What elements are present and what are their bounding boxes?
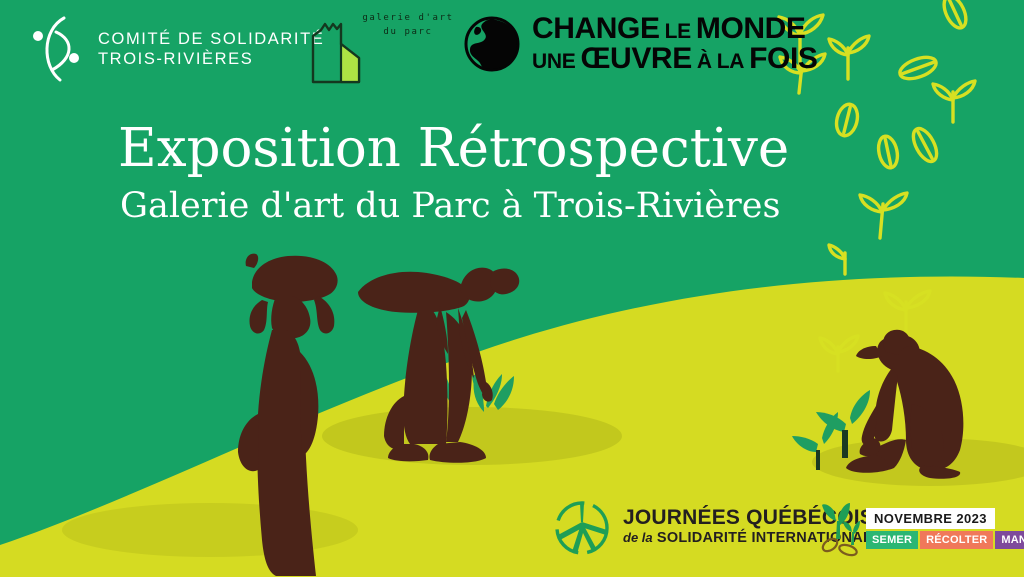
logo-gap-line2: du parc bbox=[361, 26, 455, 40]
change-word-la: LA bbox=[717, 52, 744, 73]
date-badge: NOVEMBRE 2023 SEMER RÉCOLTER MANGER bbox=[866, 508, 1024, 549]
change-word-oeuvre: ŒUVRE bbox=[580, 44, 691, 73]
gallery-building-outline-icon bbox=[307, 22, 371, 88]
logo-gap-line1: galerie d'art bbox=[361, 12, 455, 26]
pill-recolter[interactable]: RÉCOLTER bbox=[920, 531, 993, 549]
page-title: Exposition Rétrospective bbox=[118, 118, 789, 179]
sprouting-seeds-icon bbox=[820, 501, 868, 557]
date-label: NOVEMBRE 2023 bbox=[866, 508, 995, 529]
globe-icon bbox=[463, 15, 521, 73]
change-word-a: À bbox=[697, 52, 712, 73]
pill-manger[interactable]: MANGER bbox=[995, 531, 1024, 549]
pill-semer[interactable]: SEMER bbox=[866, 531, 918, 549]
poster-canvas: COMITÉ DE SOLIDARITÉ TROIS-RIVIÈRES gale… bbox=[0, 0, 1024, 577]
logo-comite-solidarite[interactable]: COMITÉ DE SOLIDARITÉ TROIS-RIVIÈRES bbox=[26, 14, 324, 84]
theme-pill-row: SEMER RÉCOLTER MANGER bbox=[866, 531, 1024, 549]
change-word-une: UNE bbox=[532, 52, 575, 73]
header-logo-row: COMITÉ DE SOLIDARITÉ TROIS-RIVIÈRES gale… bbox=[0, 0, 1024, 100]
logo-csi-line1: COMITÉ DE SOLIDARITÉ bbox=[98, 29, 324, 49]
logo-csi-line2: TROIS-RIVIÈRES bbox=[98, 49, 324, 69]
change-logo-line2: UNE ŒUVRE À LA FOIS bbox=[532, 44, 818, 73]
logo-galerie-art-du-parc[interactable]: galerie d'art du parc bbox=[307, 6, 457, 88]
jqsi-circle-star-emblem-icon bbox=[550, 496, 614, 558]
abstract-figure-arcs-icon bbox=[26, 14, 88, 84]
change-word-monde: MONDE bbox=[696, 14, 806, 43]
change-word-change: CHANGE bbox=[532, 14, 660, 43]
change-word-le: LE bbox=[665, 22, 691, 43]
change-word-fois: FOIS bbox=[749, 44, 817, 73]
jqsi-line2-italic: de la bbox=[623, 530, 653, 545]
change-logo-line1: CHANGE LE MONDE bbox=[532, 14, 818, 43]
page-subtitle: Galerie d'art du Parc à Trois-Rivières bbox=[120, 186, 780, 226]
logo-change-le-monde[interactable]: CHANGE LE MONDE UNE ŒUVRE À LA FOIS bbox=[463, 14, 818, 74]
